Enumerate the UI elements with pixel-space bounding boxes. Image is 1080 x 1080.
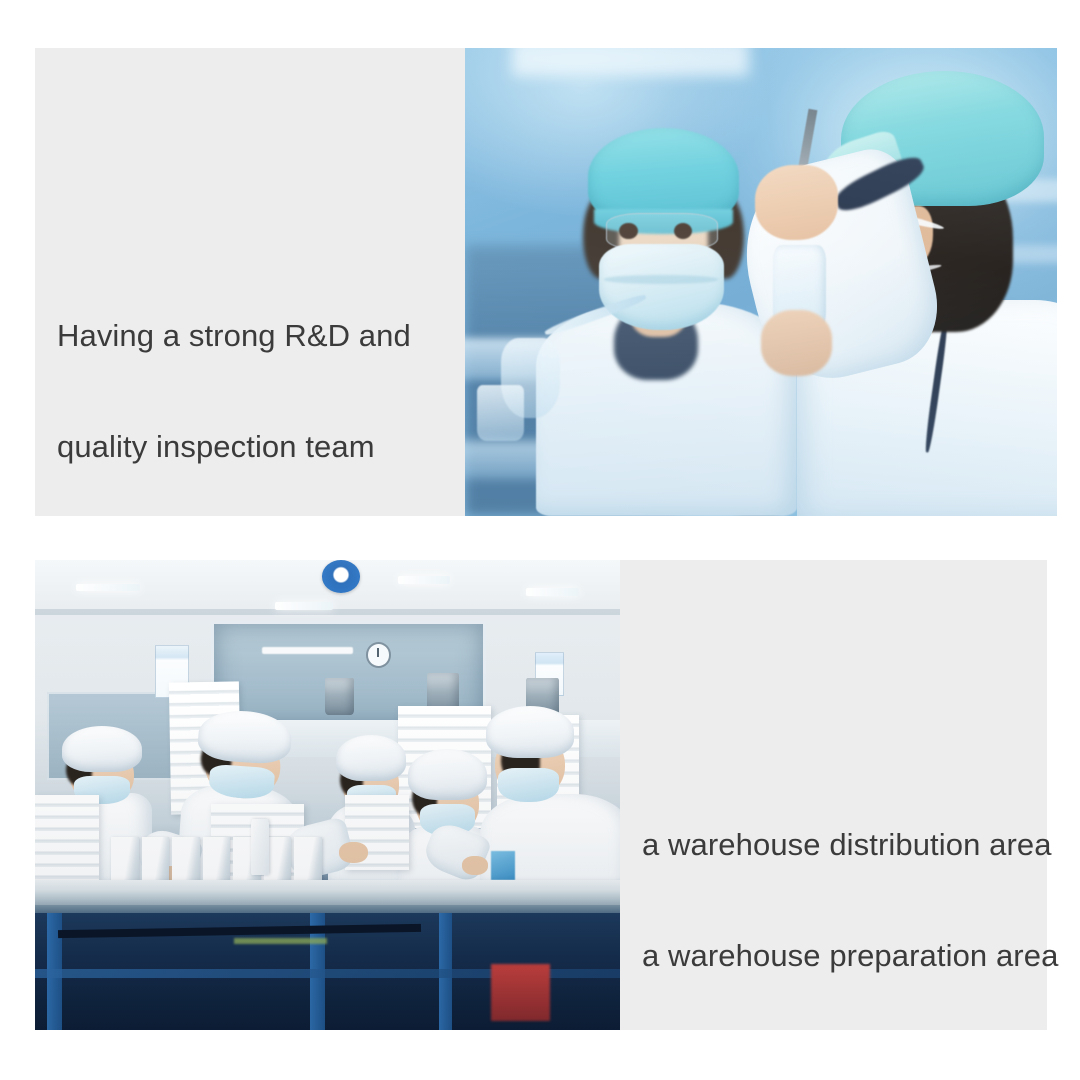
- ceiling-edge: [35, 609, 620, 615]
- ceiling-light-glow: [512, 48, 749, 76]
- carton-stack: [35, 795, 99, 880]
- ceiling-lamp: [76, 584, 140, 592]
- face-mask: [498, 768, 559, 802]
- hair-net: [336, 735, 406, 781]
- warehouse-scene: [35, 560, 620, 1030]
- rnd-caption-line-2: quality inspection team: [57, 428, 457, 465]
- warehouse-packing-photo: [35, 560, 620, 1030]
- gloved-hand-upper: [755, 165, 838, 240]
- hair-net: [62, 726, 142, 772]
- warehouse-caption-line-1: a warehouse distribution area: [642, 826, 1042, 863]
- interior-lamp: [262, 647, 353, 654]
- lab-scene: [465, 48, 1057, 516]
- warehouse-caption-line-2: a warehouse preparation area: [642, 937, 1042, 974]
- green-marking: [234, 938, 328, 944]
- composite-image: Having a strong R&D and quality inspecti…: [0, 0, 1080, 1080]
- glass-beaker: [477, 385, 524, 441]
- white-bottle: [251, 819, 269, 875]
- hair-net: [408, 749, 488, 800]
- hair-net: [486, 706, 574, 758]
- wall-clock: [366, 642, 391, 668]
- stainless-steel-table: [35, 880, 620, 908]
- steel-container: [325, 678, 354, 716]
- rnd-caption-line-1: Having a strong R&D and: [57, 317, 457, 354]
- mask-fold: [604, 275, 719, 284]
- worker-hand: [339, 842, 368, 863]
- ceiling-lamp: [275, 602, 334, 610]
- worker-hand: [462, 856, 488, 875]
- blue-round-sign: [322, 560, 361, 593]
- red-crate: [491, 964, 550, 1020]
- ceiling-lamp: [398, 576, 451, 584]
- warehouse-caption: a warehouse distribution area a warehous…: [642, 752, 1042, 1048]
- rnd-caption: Having a strong R&D and quality inspecti…: [57, 243, 457, 539]
- hand-lower: [761, 310, 832, 376]
- ceiling-lamp: [526, 588, 579, 596]
- blue-card: [491, 851, 514, 879]
- surgical-mask: [599, 244, 724, 329]
- eye-left: [619, 223, 637, 239]
- lab-rnd-photo: [465, 48, 1057, 516]
- blue-hair-cap: [588, 128, 739, 225]
